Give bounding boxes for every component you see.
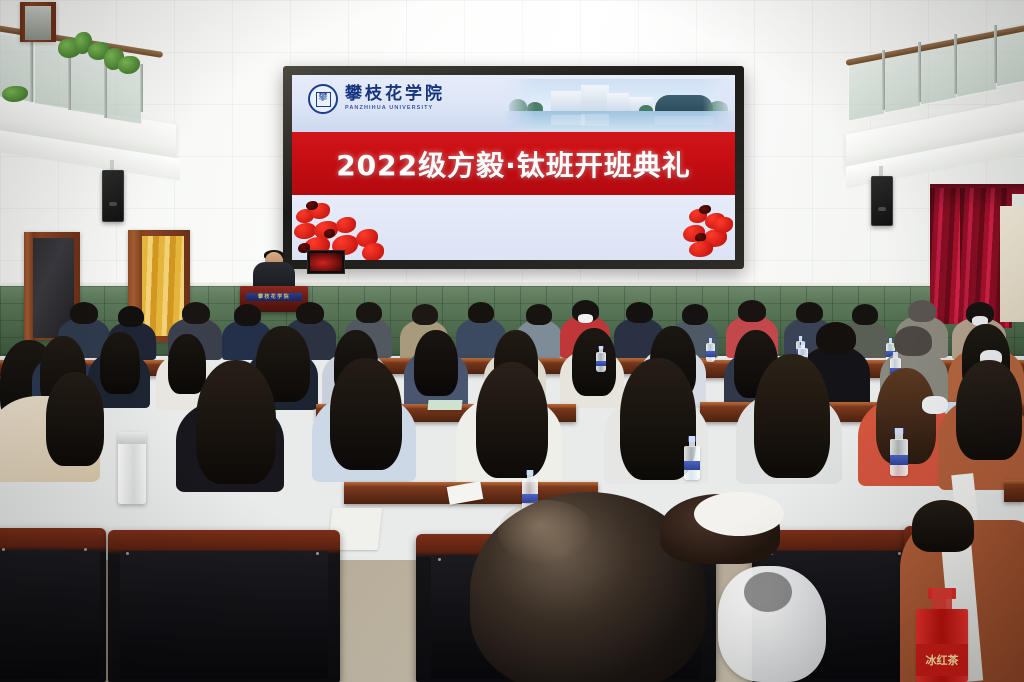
balcony-post bbox=[882, 50, 885, 110]
slide-footer bbox=[292, 195, 735, 260]
slide-title-band: 2022级方毅·钛班开班典礼 bbox=[292, 132, 735, 195]
projection-screen[interactable]: 攀 攀枝花学院 PANZHIHUA UNIVERSITY bbox=[283, 66, 744, 269]
audience-member bbox=[182, 302, 210, 324]
slide-title-text: 2022级方毅·钛班开班典礼 bbox=[336, 144, 691, 184]
desk-near-right bbox=[1004, 480, 1024, 502]
podium-nameplate-text: 攀枝花学院 bbox=[258, 293, 290, 301]
slide-content: 攀 攀枝花学院 PANZHIHUA UNIVERSITY bbox=[292, 75, 735, 260]
balcony-post bbox=[30, 40, 33, 102]
water-bottle bbox=[890, 428, 908, 476]
plastic-bag-handle-hole bbox=[744, 572, 792, 612]
audience-member bbox=[626, 302, 653, 323]
audience-member bbox=[414, 330, 458, 396]
water-bottle bbox=[706, 338, 715, 362]
slide-header: 攀 攀枝花学院 PANZHIHUA UNIVERSITY bbox=[292, 75, 735, 132]
audience-member bbox=[754, 354, 830, 478]
audience-member bbox=[572, 328, 616, 396]
audience-member bbox=[908, 300, 936, 322]
thermos-cup bbox=[118, 432, 146, 504]
red-drink-bottle: 冰红茶 bbox=[916, 588, 968, 682]
audience-member bbox=[852, 304, 878, 325]
audience-member bbox=[70, 302, 98, 324]
podium-nameplate: 攀枝花学院 bbox=[246, 293, 302, 301]
university-name-en: PANZHIHUA UNIVERSITY bbox=[345, 104, 445, 112]
audience-member bbox=[526, 304, 552, 325]
university-logo: 攀 攀枝花学院 PANZHIHUA UNIVERSITY bbox=[308, 84, 445, 114]
wall-speaker-right bbox=[871, 176, 893, 226]
audience-member bbox=[356, 302, 382, 323]
audience-member bbox=[682, 304, 708, 325]
face-mask bbox=[578, 314, 593, 323]
audience-member bbox=[46, 372, 104, 466]
upper-door-opening bbox=[25, 6, 51, 40]
audience-member bbox=[118, 306, 144, 327]
door-leaf-left[interactable] bbox=[24, 232, 33, 340]
paper-sheet bbox=[427, 400, 462, 410]
kapok-blossom-right bbox=[659, 203, 735, 257]
audience-member bbox=[100, 332, 140, 394]
audience-member bbox=[296, 302, 324, 324]
face-mask bbox=[922, 396, 948, 414]
audience-member bbox=[956, 360, 1022, 460]
water-bottle bbox=[684, 436, 700, 480]
audience-member bbox=[816, 322, 856, 354]
photo-scene: 攀 攀枝花学院 PANZHIHUA UNIVERSITY bbox=[0, 0, 1024, 682]
university-name-cn: 攀枝花学院 bbox=[345, 86, 445, 103]
balcony-post bbox=[994, 25, 997, 83]
audience-member bbox=[468, 302, 494, 323]
balcony-post bbox=[918, 42, 921, 102]
audience-member bbox=[412, 304, 438, 325]
balcony-post bbox=[954, 34, 957, 94]
audience-member bbox=[796, 302, 823, 323]
white-hood bbox=[694, 492, 784, 536]
window-light bbox=[1000, 206, 1024, 322]
red-bottle-label: 冰红茶 bbox=[926, 652, 959, 668]
audience-member-long-hair bbox=[196, 360, 276, 484]
chair-foreground[interactable] bbox=[108, 530, 340, 682]
foreground-person-hair bbox=[912, 500, 974, 552]
audience-member bbox=[738, 300, 766, 322]
water-bottle bbox=[596, 346, 606, 372]
audience-member bbox=[476, 362, 548, 478]
balcony-post bbox=[140, 64, 143, 112]
stage-monitor bbox=[307, 250, 345, 274]
audience-member bbox=[330, 358, 402, 470]
chair-foreground[interactable] bbox=[0, 528, 106, 682]
audience-member bbox=[234, 304, 261, 326]
wall-speaker-left bbox=[102, 170, 124, 222]
university-seal-icon: 攀 bbox=[308, 84, 338, 114]
campus-panorama-image bbox=[503, 79, 735, 131]
hair-highlight bbox=[498, 500, 594, 564]
audience-member bbox=[168, 334, 206, 394]
